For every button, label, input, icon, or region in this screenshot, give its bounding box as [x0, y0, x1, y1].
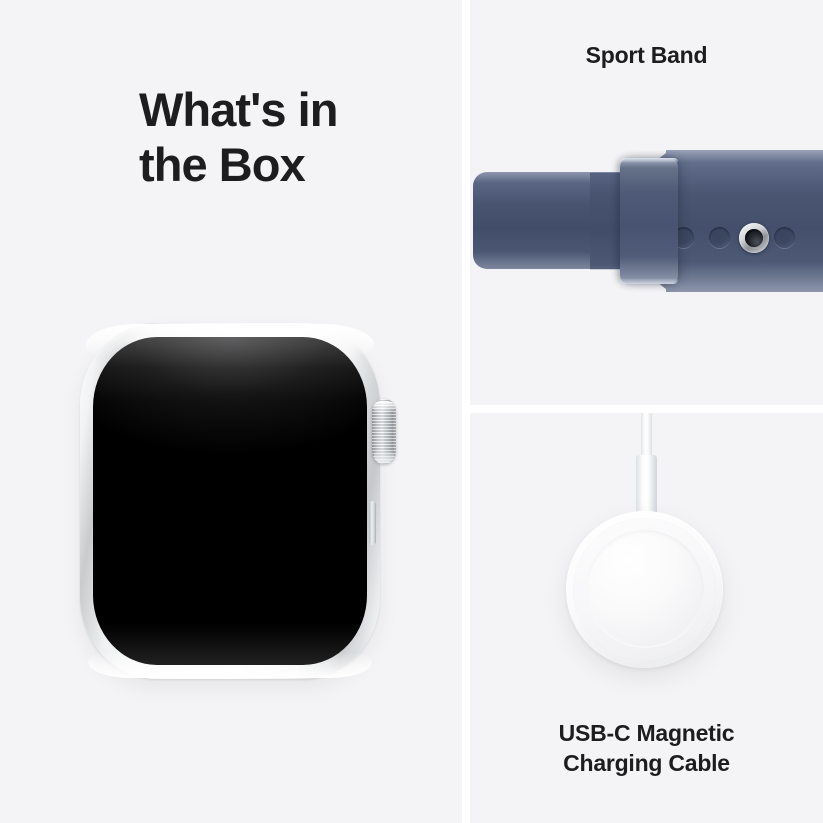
watch-display: [93, 337, 367, 665]
sport-band-hole: [709, 227, 730, 248]
keeper-top-edge: [620, 158, 678, 163]
charging-puck-face: [586, 530, 704, 648]
sport-band-icon: [470, 0, 823, 405]
keeper-bottom-edge: [620, 278, 678, 284]
sport-band-hole: [774, 227, 795, 248]
watch-side-button: [369, 501, 376, 545]
title-and-watch-panel: What's in the Box: [0, 0, 462, 823]
charging-cable-panel: USB-C Magnetic Charging Cable: [470, 413, 823, 823]
whats-in-the-box-layout: What's in the Box Sport Band: [0, 0, 823, 823]
sport-band-pin-hole: [739, 223, 769, 253]
charging-cable-wire: [641, 413, 652, 461]
sport-band-panel: Sport Band: [470, 0, 823, 405]
digital-crown-icon: [372, 399, 396, 464]
sport-band-keeper-loop: [620, 158, 678, 284]
page-title: What's in the Box: [139, 82, 338, 193]
apple-watch-icon: [80, 323, 380, 679]
watch-display-glare: [93, 337, 367, 401]
charging-cable-label: USB-C Magnetic Charging Cable: [470, 719, 823, 778]
charging-puck: [566, 511, 723, 668]
sport-band-strap: [666, 150, 823, 292]
sport-band-pin-core: [745, 229, 763, 247]
watch-display-glare-bottom: [99, 623, 361, 665]
charging-cable-strain-relief: [636, 455, 657, 519]
digital-crown-bottom-highlight: [374, 449, 394, 463]
digital-crown-top-highlight: [373, 401, 395, 413]
